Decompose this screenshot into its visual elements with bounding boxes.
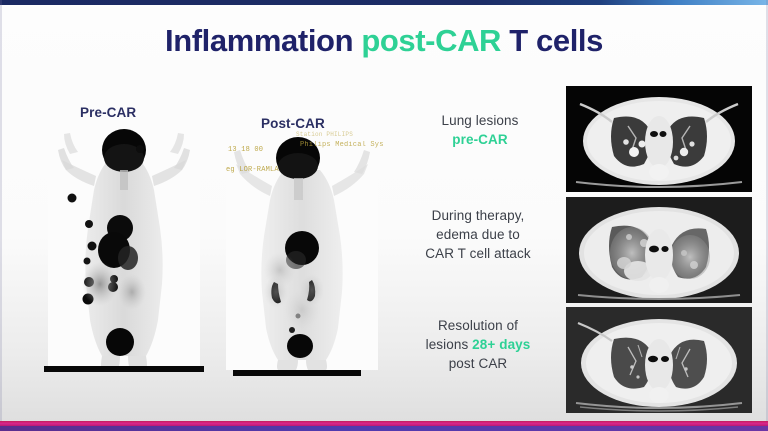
video-control-bar-bottom[interactable] — [0, 426, 768, 431]
caption-lung-lesions-pre-car: Lung lesions pre-CAR — [400, 111, 560, 149]
ct-axial-chest-during-therapy — [566, 197, 752, 303]
dicom-reconstruction-text: eg LOR-RAMLA — [226, 166, 279, 174]
dicom-vendor-text: Philips Medical Sys — [300, 141, 384, 149]
presentation-slide: Inflammation post-CAR T cells Pre-CAR Po… — [0, 0, 768, 431]
pre-car-pet-scan — [48, 124, 200, 370]
caption-1-line-2: pre-CAR — [400, 130, 560, 149]
caption-3-line-3: post CAR — [398, 354, 558, 373]
caption-3-line-2: lesions 28+ days — [398, 335, 558, 354]
ct-baseline-image — [566, 86, 752, 192]
ct-resolution-image — [566, 307, 752, 413]
pre-car-scan-baseline — [44, 366, 204, 372]
caption-1-line-1: Lung lesions — [400, 111, 560, 130]
caption-3-highlight-28-days: 28+ days — [472, 337, 530, 352]
caption-2-line-3: CAR T cell attack — [398, 244, 558, 263]
post-car-label: Post-CAR — [261, 116, 325, 131]
caption-during-therapy-edema: During therapy, edema due to CAR T cell … — [398, 206, 558, 263]
title-part-inflammation: Inflammation — [165, 23, 353, 58]
caption-resolution-of-lesions: Resolution of lesions 28+ days post CAR — [398, 316, 558, 373]
title-part-post-car: post-CAR — [361, 23, 501, 58]
pre-car-pet-image — [48, 124, 200, 370]
caption-2-line-2: edema due to — [398, 225, 558, 244]
ct-during-therapy-image — [566, 197, 752, 303]
video-bar-gloss — [0, 5, 768, 7]
caption-3-line-1: Resolution of — [398, 316, 558, 335]
dicom-station-text: Station PHILIPS — [296, 131, 353, 138]
dicom-time-text: 13 18 00 — [228, 146, 263, 154]
post-car-scan-baseline — [233, 370, 361, 376]
ct-axial-chest-baseline — [566, 86, 752, 192]
pre-car-label: Pre-CAR — [80, 105, 136, 120]
title-part-t-cells: T cells — [509, 23, 603, 58]
ct-axial-chest-resolution — [566, 307, 752, 413]
caption-3-line-2-prefix: lesions — [426, 337, 473, 352]
slide-title: Inflammation post-CAR T cells — [0, 22, 768, 60]
slide-edge-left — [0, 0, 2, 431]
caption-2-line-1: During therapy, — [398, 206, 558, 225]
